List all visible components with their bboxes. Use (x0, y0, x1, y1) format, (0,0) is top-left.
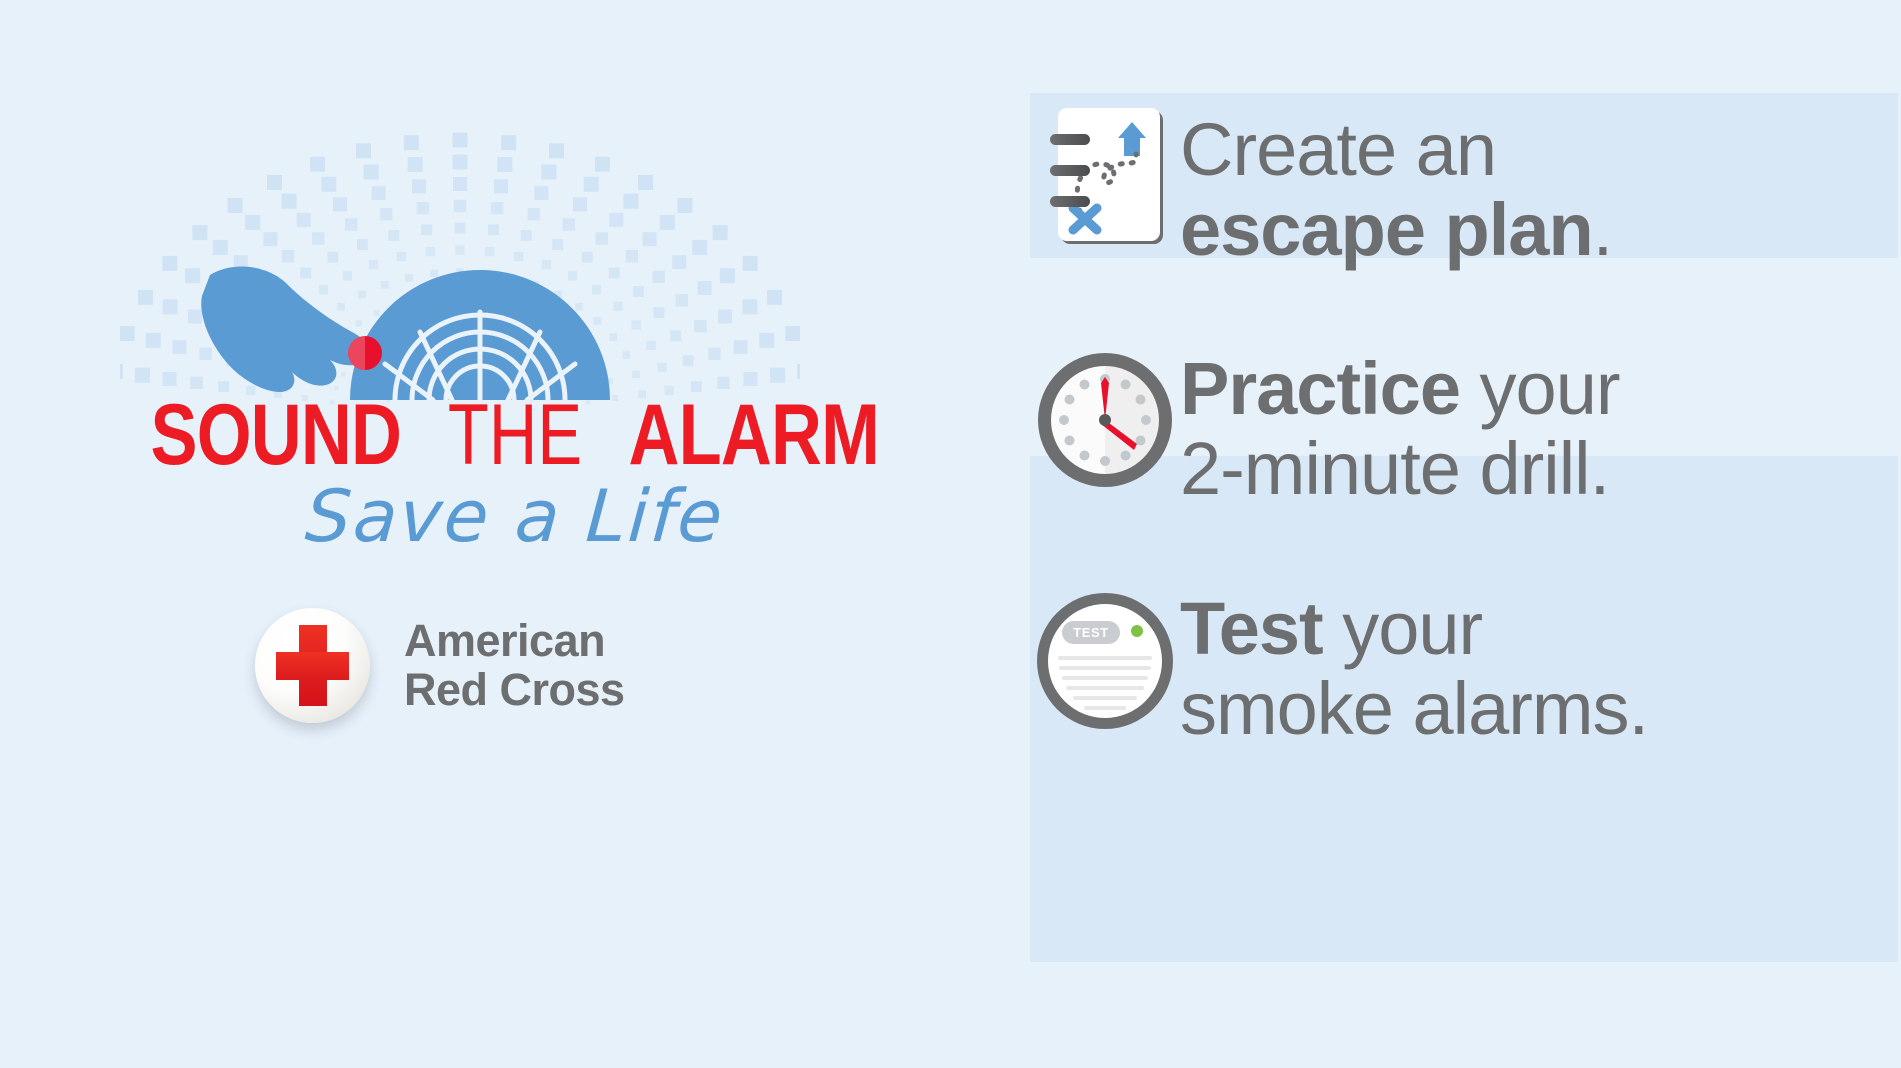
red-cross-icon (255, 608, 370, 723)
vent-line (1073, 696, 1137, 700)
notepad-ring-2 (1050, 165, 1090, 176)
test-button-glyph: TEST (1062, 621, 1120, 644)
logo-line-2: Red Cross (404, 666, 625, 715)
tip-2-line-2: 2-minute drill. (1180, 427, 1609, 510)
cross-horizontal-bar (276, 652, 349, 680)
tip-2-line-1-rest: your (1460, 347, 1620, 430)
hand-pressing-smoke-alarm-icon (180, 240, 760, 400)
logo-line-1: American (404, 617, 625, 666)
infographic-canvas: SOUNDTHEALARM Save a Life American Red C… (0, 0, 1901, 1068)
clock-hub (1099, 414, 1111, 426)
wordmark-alarm: ALARM (629, 392, 880, 478)
tip-item-test-alarms: TEST Test your smoke alarms. (1030, 585, 1901, 749)
american-red-cross-logo: American Red Cross (255, 608, 625, 723)
green-led-icon (1131, 625, 1143, 637)
vent-line (1058, 656, 1152, 660)
smoke-alarm-icon: TEST (1037, 593, 1173, 729)
tip-3-line-1-rest: your (1323, 587, 1483, 670)
clock-icon (1038, 353, 1172, 487)
tagline: Save a Life (0, 480, 1033, 552)
smoke-alarm-face: TEST (1048, 604, 1162, 718)
tip-2-text: Practice your 2-minute drill. (1180, 345, 1620, 509)
vent-line (1066, 686, 1144, 690)
notepad-ring-1 (1050, 134, 1090, 145)
tip-3-text: Test your smoke alarms. (1180, 585, 1648, 749)
vent-line (1059, 666, 1151, 670)
red-cross-wordmark: American Red Cross (404, 617, 625, 714)
vent-line (1084, 706, 1126, 710)
page-title-wordmark: SOUNDTHEALARM (0, 392, 1030, 478)
notepad-ring-3 (1050, 196, 1090, 207)
wordmark-sound: SOUND (151, 392, 402, 478)
escape-plan-notepad-icon (1050, 108, 1160, 243)
tip-1-line-1: Create an (1180, 108, 1496, 191)
tip-3-icon-slot: TEST (1030, 585, 1180, 729)
tip-1-line-2-period: . (1593, 188, 1613, 271)
brand-panel: SOUNDTHEALARM Save a Life American Red C… (0, 0, 1030, 1068)
tip-item-practice-drill: Practice your 2-minute drill. (1030, 345, 1901, 509)
tip-1-text: Create an escape plan. (1180, 100, 1612, 270)
tip-1-icon-slot (1030, 100, 1180, 243)
tip-3-line-1-bold: Test (1180, 587, 1323, 670)
tip-1-line-2-bold: escape plan (1180, 188, 1593, 271)
tip-item-escape-plan: Create an escape plan. (1030, 100, 1901, 270)
tip-2-icon-slot (1030, 345, 1180, 487)
vent-line (1062, 676, 1148, 680)
tip-3-line-2: smoke alarms. (1180, 667, 1648, 750)
wordmark-the: THE (448, 392, 582, 478)
tip-2-line-1-bold: Practice (1180, 347, 1460, 430)
tips-panel: Create an escape plan. Practice your (1030, 0, 1901, 1068)
